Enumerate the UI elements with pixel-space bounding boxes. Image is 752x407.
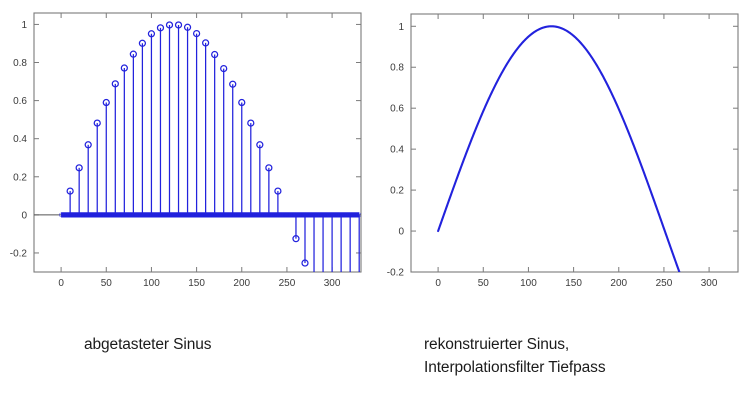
y-tick-label: 1 bbox=[398, 22, 404, 33]
series-layer bbox=[438, 26, 682, 279]
x-tick-label: 300 bbox=[701, 278, 718, 289]
caption-sampled-sine: abgetasteter Sinus bbox=[84, 333, 211, 356]
y-tick-label: 0.8 bbox=[13, 58, 27, 69]
y-tick-label: 0.4 bbox=[390, 145, 404, 156]
y-tick-label: 0.8 bbox=[390, 63, 404, 74]
x-tick-label: 0 bbox=[58, 278, 64, 289]
series-layer bbox=[34, 22, 361, 320]
x-tick-label: 250 bbox=[656, 278, 673, 289]
x-tick-label: 100 bbox=[143, 278, 160, 289]
x-tick-label: 200 bbox=[233, 278, 250, 289]
y-tick-label: -0.2 bbox=[10, 248, 28, 259]
x-tick-label: 150 bbox=[188, 278, 205, 289]
y-tick-label: 0 bbox=[398, 227, 404, 238]
reconstructed-sine-curve bbox=[438, 26, 682, 279]
y-tick-label: 1 bbox=[21, 20, 27, 31]
y-tick-label: 0.6 bbox=[13, 96, 27, 107]
y-tick-label: 0.4 bbox=[13, 134, 27, 145]
x-tick-label: 50 bbox=[101, 278, 113, 289]
y-tick-label: 0.2 bbox=[390, 186, 404, 197]
sampled-sine-chart: 050100150200250300-0.200.20.40.60.81 bbox=[0, 0, 376, 320]
y-tick-label: 0.2 bbox=[13, 172, 27, 183]
y-tick-label: 0 bbox=[21, 210, 27, 221]
x-tick-label: 100 bbox=[520, 278, 537, 289]
x-tick-label: 200 bbox=[610, 278, 627, 289]
reconstructed-sine-chart: 050100150200250300-0.200.20.40.60.81 bbox=[376, 0, 752, 320]
x-tick-label: 0 bbox=[435, 278, 441, 289]
caption-reconstructed-sine: rekonstruierter Sinus, Interpolationsfil… bbox=[424, 333, 605, 379]
figure-reconstructed-sine: 050100150200250300-0.200.20.40.60.81 bbox=[376, 0, 752, 320]
plot-frame bbox=[34, 13, 361, 272]
x-tick-label: 150 bbox=[565, 278, 582, 289]
x-tick-label: 300 bbox=[324, 278, 341, 289]
figure-sampled-sine: 050100150200250300-0.200.20.40.60.81 bbox=[0, 0, 376, 320]
x-tick-label: 250 bbox=[279, 278, 296, 289]
y-tick-label: 0.6 bbox=[390, 104, 404, 115]
y-tick-label: -0.2 bbox=[387, 268, 405, 279]
plot-frame bbox=[411, 14, 738, 272]
x-tick-label: 50 bbox=[478, 278, 490, 289]
